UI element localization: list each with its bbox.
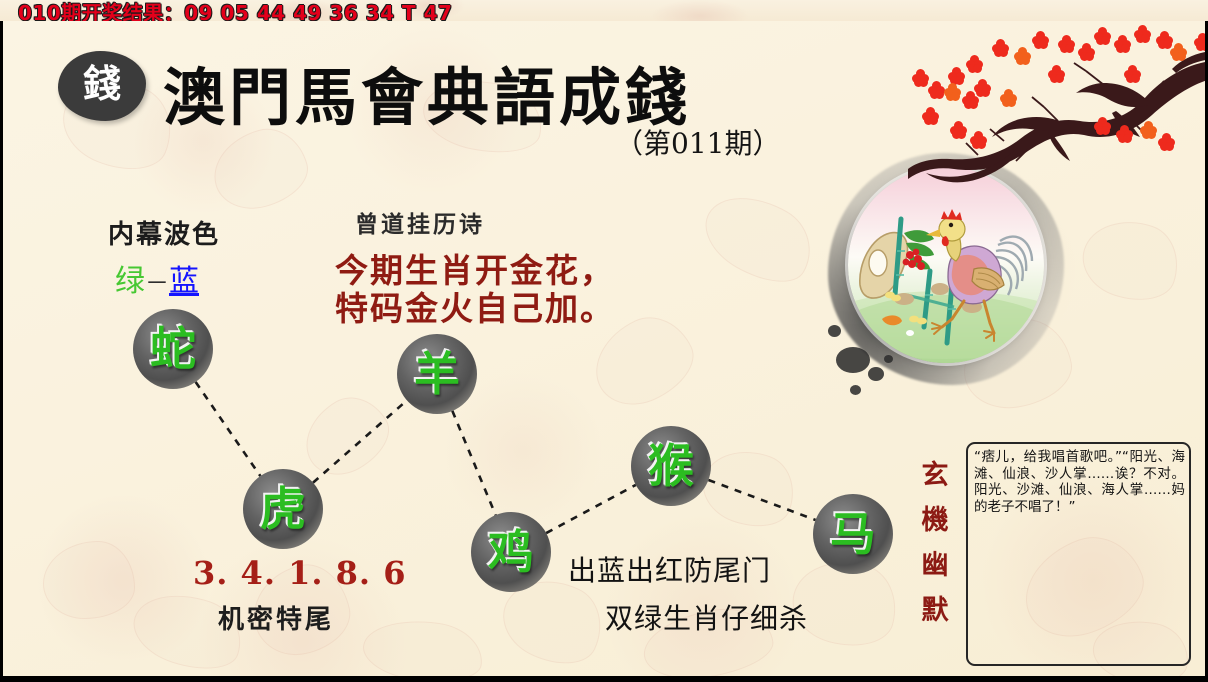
brand-logo-char: 錢 [58,58,146,110]
brand-logo-badge: 錢 [58,51,146,121]
zodiac-stone-ji[interactable]: 鸡 [471,512,551,592]
ink-splatter [828,325,841,337]
poster-body: 錢 澳門馬會典語成錢 （第011期） 内幕波色 绿－蓝 曾道挂历诗 今期生肖开金… [3,21,1205,676]
plum-blossom-branch [908,21,1205,196]
wave-color-green: 绿 [115,264,145,299]
ink-splatter [884,355,893,363]
vertical-section-label: 玄 機 幽 默 [915,453,955,633]
vertical-label-char: 機 [915,498,955,543]
ink-splatter [850,385,861,395]
poster-canvas: 010期开奖结果：09 05 44 49 36 34 T 47 [0,0,1208,682]
zodiac-stone-label: 鸡 [488,529,534,575]
joke-text: “痞儿，给我唱首歌吧。”“阳光、海滩、仙浪、沙人掌……诶？不对。阳光、沙滩、仙浪… [974,449,1185,515]
zodiac-stone-label: 蛇 [150,326,196,372]
vertical-label-char: 幽 [915,543,955,588]
poem-title: 曾道挂历诗 [355,205,485,239]
lottery-result-text: 010期开奖结果：09 05 44 49 36 34 T 47 [18,0,452,21]
tip-line-2: 双绿生肖仔细杀 [605,597,808,637]
page-title: 澳門馬會典語成錢 [163,47,691,137]
wave-color-label: 内幕波色 [108,214,220,251]
tip-line-1: 出蓝出红防尾门 [568,549,771,589]
secret-tail-caption: 机密特尾 [218,599,334,636]
zodiac-stone-label: 羊 [414,351,460,397]
zodiac-stone-label: 猴 [648,443,694,489]
vertical-label-char: 默 [915,588,955,633]
zodiac-stone-hu[interactable]: 虎 [243,469,323,549]
ink-splatter [836,347,870,373]
zodiac-stone-label: 虎 [260,486,306,532]
vertical-label-char: 玄 [915,453,955,498]
joke-panel: “痞儿，给我唱首歌吧。”“阳光、海滩、仙浪、沙人掌……诶？不对。阳光、沙滩、仙浪… [966,442,1191,666]
secret-tail-numbers: 3. 4. 1. 8. 6 [193,554,406,592]
zodiac-stone-yang[interactable]: 羊 [397,334,477,414]
issue-number: （第011期） [615,122,780,162]
lottery-result-bar: 010期开奖结果：09 05 44 49 36 34 T 47 [0,0,1208,21]
poem-line-2: 特码金火自己加。 [335,282,615,330]
ink-splatter [868,367,884,381]
wave-color-blue: 蓝 [169,264,199,299]
zodiac-stone-label: 马 [830,511,876,557]
wave-color-dash: － [145,269,169,297]
zodiac-stone-she[interactable]: 蛇 [133,309,213,389]
zodiac-stone-ma[interactable]: 马 [813,494,893,574]
wave-color-values: 绿－蓝 [115,256,199,300]
zodiac-stone-hou[interactable]: 猴 [631,426,711,506]
